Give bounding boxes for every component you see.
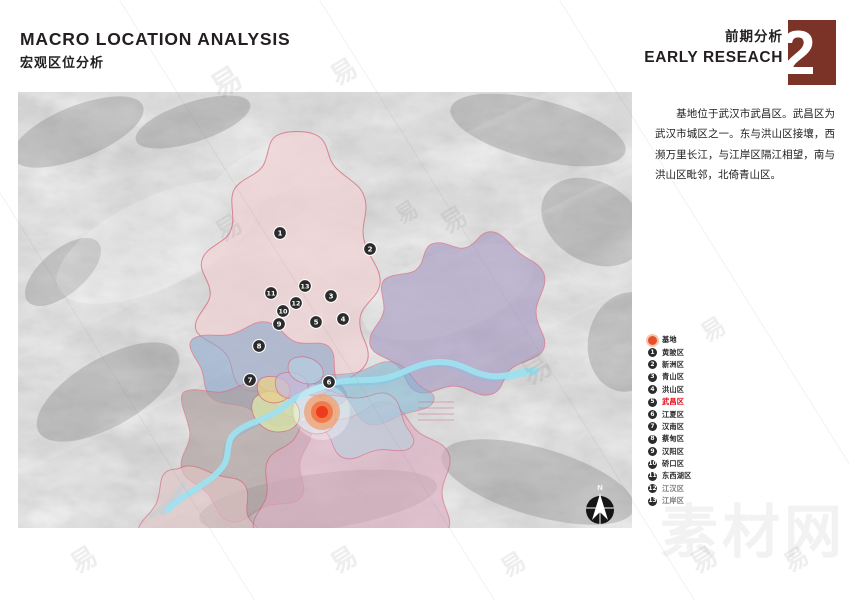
district-number-icon: 6 [648,410,657,419]
district-number-icon: 12 [648,484,657,493]
district-number-icon: 9 [648,447,657,456]
macro-location-map[interactable]: 1 2 3 4 5 6 7 8 9 10 11 [18,92,632,528]
district-number-icon: 1 [648,348,657,357]
svg-text:10: 10 [279,307,288,315]
legend-item[interactable]: 9汉阳区 [648,446,768,458]
site-marker [294,384,350,440]
legend-marker-number: 2 [648,360,657,369]
page-title-en: MACRO LOCATION ANALYSIS [20,29,291,49]
site-marker-icon [648,336,657,345]
legend-item[interactable]: 5武昌区 [648,396,768,408]
legend-item-label: 青山区 [662,372,684,382]
district-number-icon: 3 [648,373,657,382]
legend-item-label: 江夏区 [662,410,684,420]
legend-item[interactable]: 12江汉区 [648,483,768,495]
legend-item[interactable]: 基地 [648,334,768,346]
district-number-icon: 2 [648,360,657,369]
legend-item-label: 蔡甸区 [662,434,684,444]
legend-item[interactable]: 6江夏区 [648,408,768,420]
section-title: 前期分析 EARLY RESEACH [644,28,783,67]
district-number-icon: 13 [648,497,657,506]
district-number-icon: 8 [648,435,657,444]
legend-item-label: 洪山区 [662,385,684,395]
legend-item-label: 汉阳区 [662,447,684,457]
legend-item[interactable]: 11东西湖区 [648,470,768,482]
map-legend: 基地1黄陂区2新洲区3青山区4洪山区5武昌区6江夏区7汉南区8蔡甸区9汉阳区10… [648,334,768,507]
legend-marker-number: 11 [648,472,657,481]
page-header: MACRO LOCATION ANALYSIS 宏观区位分析 前期分析 EARL… [0,0,849,92]
svg-text:7: 7 [248,377,253,385]
legend-marker-number: 6 [648,410,657,419]
legend-item[interactable]: 13江岸区 [648,495,768,507]
legend-marker-number: 8 [648,435,657,444]
svg-text:9: 9 [277,321,282,329]
legend-item-label: 江汉区 [662,484,684,494]
legend-item-label: 汉南区 [662,422,684,432]
legend-item-label: 硚口区 [662,459,684,469]
legend-item-label: 新洲区 [662,360,684,370]
svg-text:N: N [597,484,603,492]
svg-text:4: 4 [341,316,346,324]
svg-text:3: 3 [329,293,334,301]
legend-marker-number: 9 [648,447,657,456]
legend-marker-number: 3 [648,373,657,382]
legend-item[interactable]: 8蔡甸区 [648,433,768,445]
district-number-icon: 7 [648,422,657,431]
district-number-icon: 10 [648,460,657,469]
legend-item-label: 黄陂区 [662,348,684,358]
legend-item-label: 基地 [662,335,677,345]
legend-item[interactable]: 1黄陂区 [648,346,768,358]
page-title-cn: 宏观区位分析 [20,52,291,71]
legend-marker-number: 12 [648,484,657,493]
legend-item[interactable]: 3青山区 [648,371,768,383]
section-number: 2 [781,22,841,90]
legend-item-label: 江岸区 [662,496,684,506]
svg-text:12: 12 [292,299,301,307]
svg-text:8: 8 [257,343,262,351]
district-number-icon: 11 [648,472,657,481]
legend-item[interactable]: 2新洲区 [648,359,768,371]
district-number-icon: 4 [648,385,657,394]
svg-text:13: 13 [301,282,310,290]
legend-marker-number: 7 [648,422,657,431]
section-title-cn: 前期分析 [644,28,783,46]
legend-marker-number: 4 [648,385,657,394]
svg-text:5: 5 [314,319,319,327]
legend-marker-number: 10 [648,460,657,469]
map-canvas: 1 2 3 4 5 6 7 8 9 10 11 [18,92,632,528]
legend-item[interactable]: 4洪山区 [648,384,768,396]
legend-item-label: 东西湖区 [662,471,692,481]
svg-text:2: 2 [368,246,373,254]
svg-text:1: 1 [278,230,283,238]
legend-item[interactable]: 7汉南区 [648,421,768,433]
svg-text:6: 6 [327,379,332,387]
section-title-en: EARLY RESEACH [644,48,783,67]
legend-marker-number: 1 [648,348,657,357]
description-text: 基地位于武汉市武昌区。武昌区为武汉市城区之一。东与洪山区接壤，西濒万里长江，与江… [655,104,835,186]
svg-text:11: 11 [267,289,276,297]
legend-marker-number: 13 [648,497,657,506]
district-number-icon: 5 [648,398,657,407]
legend-marker-number: 5 [648,398,657,407]
page-title: MACRO LOCATION ANALYSIS 宏观区位分析 [20,29,291,71]
legend-item-label: 武昌区 [662,397,684,407]
legend-item[interactable]: 10硚口区 [648,458,768,470]
